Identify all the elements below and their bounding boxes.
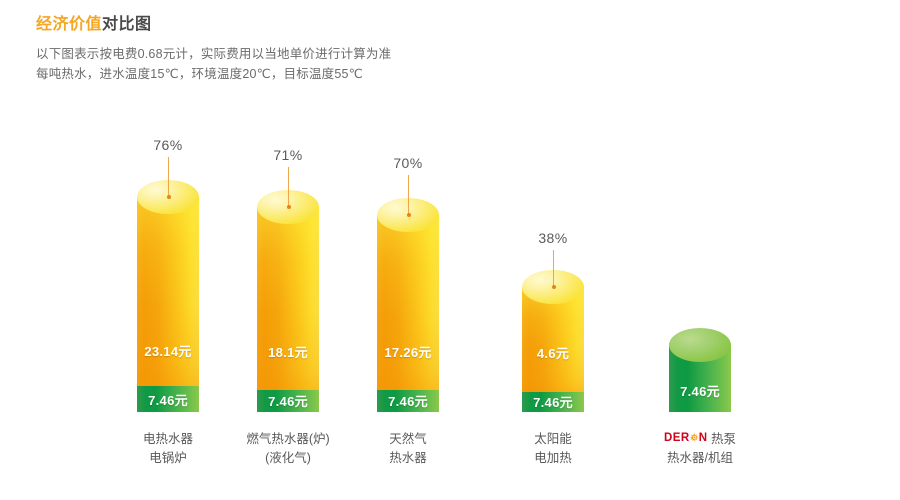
bar-category-line-2: 热水器/机组 (620, 449, 780, 468)
bar-category-line-1: 燃气热水器(炉) (246, 432, 329, 446)
bar-percent-label: 70% (347, 155, 469, 171)
bar-upper-value-label: 4.6元 (522, 343, 584, 362)
bar-upper-value-label: 17.26元 (377, 342, 439, 361)
bar-category-line-1: 太阳能 (534, 432, 572, 446)
cylinder-green-cap (669, 328, 731, 362)
bar-natural-gas-heater[interactable]: 7.46元17.26元70%天然气热水器 (377, 0, 439, 500)
sun-icon (690, 433, 699, 442)
bar-lower-value-label: 7.46元 (257, 391, 319, 410)
bar-category-label: 太阳能电加热 (473, 430, 633, 468)
bar-leader-line (408, 175, 409, 215)
cylinder-orange-shading (377, 215, 439, 390)
bar-electric-heater[interactable]: 7.46元23.14元76%电热水器电锅炉 (137, 0, 199, 500)
bar-category-line-1: 热泵 (708, 432, 736, 446)
bar-lower-value-label: 7.46元 (377, 391, 439, 410)
bar-lower-value-label: 7.46元 (522, 392, 584, 411)
bar-chart-plot: 7.46元23.14元76%电热水器电锅炉7.46元18.1元71%燃气热水器(… (0, 0, 900, 500)
bar-leader-dot (167, 195, 171, 199)
bar-category-label: DERN 热泵热水器/机组 (620, 430, 780, 468)
bar-lower-value-label: 7.46元 (669, 381, 731, 400)
bar-percent-label: 76% (107, 137, 229, 153)
bar-percent-label: 38% (492, 230, 614, 246)
bar-category-label: 天然气热水器 (328, 430, 488, 468)
bar-leader-dot (407, 213, 411, 217)
bar-category-line-1: 电热水器 (143, 432, 193, 446)
bar-leader-line (553, 250, 554, 287)
bar-leader-dot (287, 205, 291, 209)
bar-category-line-2: 热水器 (328, 449, 488, 468)
bar-leader-dot (552, 285, 556, 289)
cylinder-orange-shading (257, 207, 319, 390)
bar-leader-line (288, 167, 289, 207)
bar-gas-heater-lpg[interactable]: 7.46元18.1元71%燃气热水器(炉)(液化气) (257, 0, 319, 500)
bar-category-line-2: 电加热 (473, 449, 633, 468)
bar-lower-value-label: 7.46元 (137, 390, 199, 409)
chart-page: 经济价值对比图 以下图表示按电费0.68元计，实际费用以当地单价进行计算为准 每… (0, 0, 900, 500)
bar-upper-value-label: 18.1元 (257, 342, 319, 361)
bar-solar-electric[interactable]: 7.46元4.6元38%太阳能电加热 (522, 0, 584, 500)
bar-percent-label: 71% (227, 147, 349, 163)
bar-deron-heat-pump[interactable]: 7.46元DERN 热泵热水器/机组 (669, 0, 731, 500)
bar-upper-value-label: 23.14元 (137, 341, 199, 360)
deron-logo: DERN (664, 429, 708, 448)
deron-logo-suffix: N (699, 432, 708, 444)
bar-category-line-1: 天然气 (389, 432, 427, 446)
deron-logo-prefix: DER (664, 432, 690, 444)
bar-leader-line (168, 157, 169, 197)
